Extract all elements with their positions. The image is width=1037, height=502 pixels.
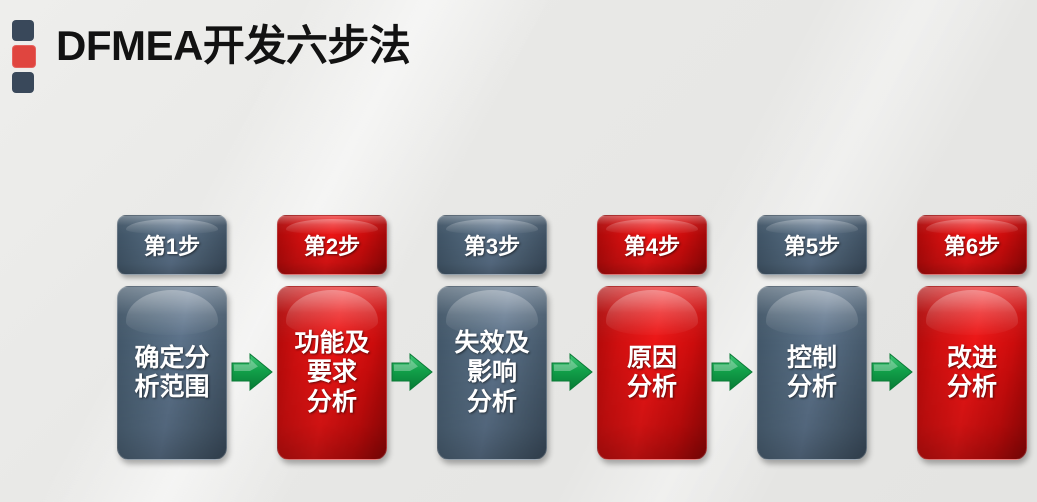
step-1-body: 确定分 析范围 (117, 286, 227, 460)
process-step-2[interactable]: 第2步 功能及 要求 分析 (278, 215, 386, 460)
step-2-line-1: 功能及 (294, 329, 369, 359)
step-2-body: 功能及 要求 分析 (277, 286, 387, 460)
step-5-header: 第5步 (757, 215, 867, 275)
step-3-header: 第3步 (437, 215, 547, 275)
arrow-right-icon (710, 351, 754, 393)
step-5-line-1: 控制 (787, 344, 837, 374)
process-step-1[interactable]: 第1步 确定分 析范围 (118, 215, 226, 460)
connector-arrow-1 (226, 215, 278, 467)
step-3-line-1: 失效及 (454, 329, 529, 359)
connector-arrow-4 (706, 215, 758, 467)
slide-title-bar: DFMEA开发六步法 (0, 0, 1037, 96)
step-1-line-2: 析范围 (134, 373, 209, 403)
step-6-header: 第6步 (917, 215, 1027, 275)
page-title: DFMEA开发六步法 (56, 18, 410, 74)
arrow-right-icon (230, 351, 274, 393)
step-5-line-2: 分析 (787, 373, 837, 403)
arrow-right-icon (870, 351, 914, 393)
process-step-3[interactable]: 第3步 失效及 影响 分析 (438, 215, 546, 460)
step-4-line-1: 原因 (627, 344, 677, 374)
step-4-body: 原因 分析 (597, 286, 707, 460)
step-5-body: 控制 分析 (757, 286, 867, 460)
step-3-line-3: 分析 (454, 388, 529, 418)
step-4-header: 第4步 (597, 215, 707, 275)
mark-red-middle-icon (12, 45, 36, 68)
slide-canvas: DFMEA开发六步法 第1步 确定分 析范围 (0, 0, 1037, 502)
process-step-4[interactable]: 第4步 原因 分析 (598, 215, 706, 460)
step-1-header: 第1步 (117, 215, 227, 275)
mark-navy-top-icon (12, 20, 34, 41)
step-2-header: 第2步 (277, 215, 387, 275)
connector-arrow-5 (866, 215, 918, 467)
step-6-line-1: 改进 (947, 344, 997, 374)
process-step-6[interactable]: 第6步 改进 分析 (918, 215, 1026, 460)
process-flow: 第1步 确定分 析范围 (118, 215, 1028, 467)
step-4-line-2: 分析 (627, 373, 677, 403)
connector-arrow-3 (546, 215, 598, 467)
step-2-line-3: 分析 (294, 388, 369, 418)
connector-arrow-2 (386, 215, 438, 467)
step-1-line-1: 确定分 (134, 344, 209, 374)
mark-navy-bottom-icon (12, 72, 34, 93)
step-3-line-2: 影响 (454, 358, 529, 388)
step-6-line-2: 分析 (947, 373, 997, 403)
title-decoration-marks (12, 20, 34, 93)
step-3-body: 失效及 影响 分析 (437, 286, 547, 460)
arrow-right-icon (390, 351, 434, 393)
step-6-body: 改进 分析 (917, 286, 1027, 460)
process-step-5[interactable]: 第5步 控制 分析 (758, 215, 866, 460)
arrow-right-icon (550, 351, 594, 393)
step-2-line-2: 要求 (294, 358, 369, 388)
